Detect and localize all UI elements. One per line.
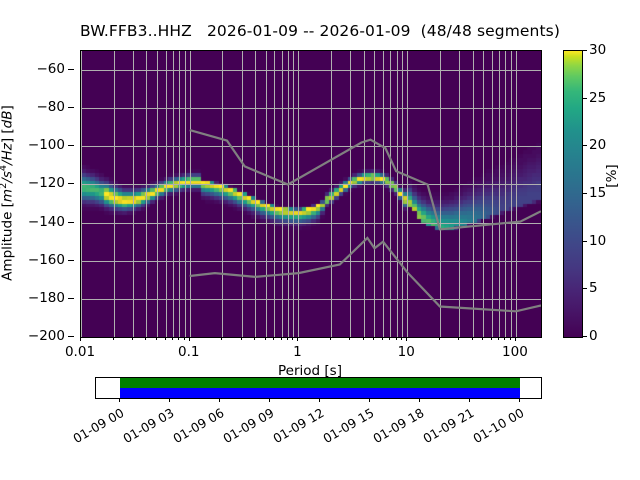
x-tick-minor <box>330 337 331 340</box>
x-tick-label: 0.1 <box>178 344 199 360</box>
x-tick-minor <box>165 337 166 340</box>
x-tick-label: 1 <box>293 344 302 360</box>
date-tick <box>119 398 120 402</box>
y-tick-label: −80 <box>37 99 66 115</box>
x-tick-major <box>80 337 81 341</box>
x-tick-minor <box>172 337 173 340</box>
date-tick <box>419 398 420 402</box>
x-tick-minor <box>241 337 242 340</box>
date-tick <box>319 398 320 402</box>
date-tick <box>519 398 520 402</box>
date-tick <box>369 398 370 402</box>
x-tick-label: 0.01 <box>65 344 95 360</box>
y-tick-label: −200 <box>28 328 65 344</box>
y-tick-label: −60 <box>37 61 66 77</box>
coverage-date-axis: 01-09 0001-09 0301-09 0601-09 0901-09 12… <box>95 398 540 478</box>
x-tick-major <box>189 337 190 341</box>
x-tick-minor <box>132 337 133 340</box>
x-tick-minor <box>113 337 114 340</box>
colorbar-tick <box>582 288 587 289</box>
nlnm-curve <box>190 238 541 311</box>
x-tick-minor <box>184 337 185 340</box>
colorbar-label: [%] <box>604 156 620 196</box>
x-tick-minor <box>145 337 146 340</box>
coverage-filled-span <box>120 378 519 398</box>
y-tick <box>68 107 74 108</box>
colorbar-tick <box>582 98 587 99</box>
x-tick-minor <box>498 337 499 340</box>
x-tick-minor <box>382 337 383 340</box>
nhnm-curve <box>190 130 541 229</box>
y-tick <box>68 183 74 184</box>
colorbar-tick-label: 30 <box>589 42 606 58</box>
time-coverage-strip <box>95 377 542 399</box>
ppsd-figure: BW.FFB3..HHZ 2026-01-09 -- 2026-01-09 (4… <box>0 0 640 480</box>
x-tick-minor <box>273 337 274 340</box>
colorbar-tick <box>582 50 587 51</box>
x-tick-major <box>297 337 298 341</box>
x-tick-minor <box>221 337 222 340</box>
y-tick-label: −180 <box>28 290 65 306</box>
x-tick-minor <box>281 337 282 340</box>
colorbar-tick <box>582 336 587 337</box>
x-tick-minor <box>363 337 364 340</box>
x-tick-minor <box>254 337 255 340</box>
date-tick <box>269 398 270 402</box>
colorbar <box>563 50 583 338</box>
x-tick-minor <box>439 337 440 340</box>
x-tick-minor <box>491 337 492 340</box>
x-tick-major <box>515 337 516 341</box>
x-tick-minor <box>287 337 288 340</box>
coverage-band-blue <box>120 388 519 398</box>
colorbar-tick-label: 20 <box>589 137 606 153</box>
x-tick-minor <box>482 337 483 340</box>
figure-title: BW.FFB3..HHZ 2026-01-09 -- 2026-01-09 (4… <box>0 22 640 40</box>
x-tick-major <box>406 337 407 341</box>
date-tick <box>169 398 170 402</box>
x-tick-minor <box>396 337 397 340</box>
y-tick <box>68 145 74 146</box>
x-tick-minor <box>292 337 293 340</box>
x-tick-minor <box>156 337 157 340</box>
y-tick <box>68 69 74 70</box>
y-axis-label: Amplitude [m2/s4/Hz] [dB] <box>0 50 16 336</box>
x-tick-label: 10 <box>398 344 415 360</box>
x-tick-minor <box>373 337 374 340</box>
y-tick-label: −140 <box>28 214 65 230</box>
colorbar-tick <box>582 241 587 242</box>
x-tick-minor <box>265 337 266 340</box>
colorbar-tick-label: 10 <box>589 233 606 249</box>
y-tick <box>68 336 74 337</box>
y-tick-label: −160 <box>28 252 65 268</box>
x-tick-minor <box>401 337 402 340</box>
x-tick-minor <box>389 337 390 340</box>
date-tick <box>469 398 470 402</box>
colorbar-tick <box>582 145 587 146</box>
x-tick-label: 100 <box>502 344 528 360</box>
y-tick <box>68 298 74 299</box>
colorbar-tick-label: 0 <box>589 328 598 344</box>
y-tick <box>68 222 74 223</box>
y-tick-label: −120 <box>28 175 65 191</box>
x-tick-minor <box>458 337 459 340</box>
y-tick <box>68 260 74 261</box>
x-tick-minor <box>504 337 505 340</box>
x-tick-minor <box>178 337 179 340</box>
x-tick-minor <box>510 337 511 340</box>
ppsd-plot-area <box>80 50 542 338</box>
coverage-band-green <box>120 378 519 388</box>
colorbar-tick-label: 5 <box>589 280 598 296</box>
colorbar-tick <box>582 193 587 194</box>
x-tick-minor <box>349 337 350 340</box>
x-tick-minor <box>472 337 473 340</box>
date-tick <box>219 398 220 402</box>
colorbar-tick-label: 25 <box>589 90 606 106</box>
y-tick-label: −100 <box>28 137 65 153</box>
noise-model-curves <box>81 51 541 337</box>
